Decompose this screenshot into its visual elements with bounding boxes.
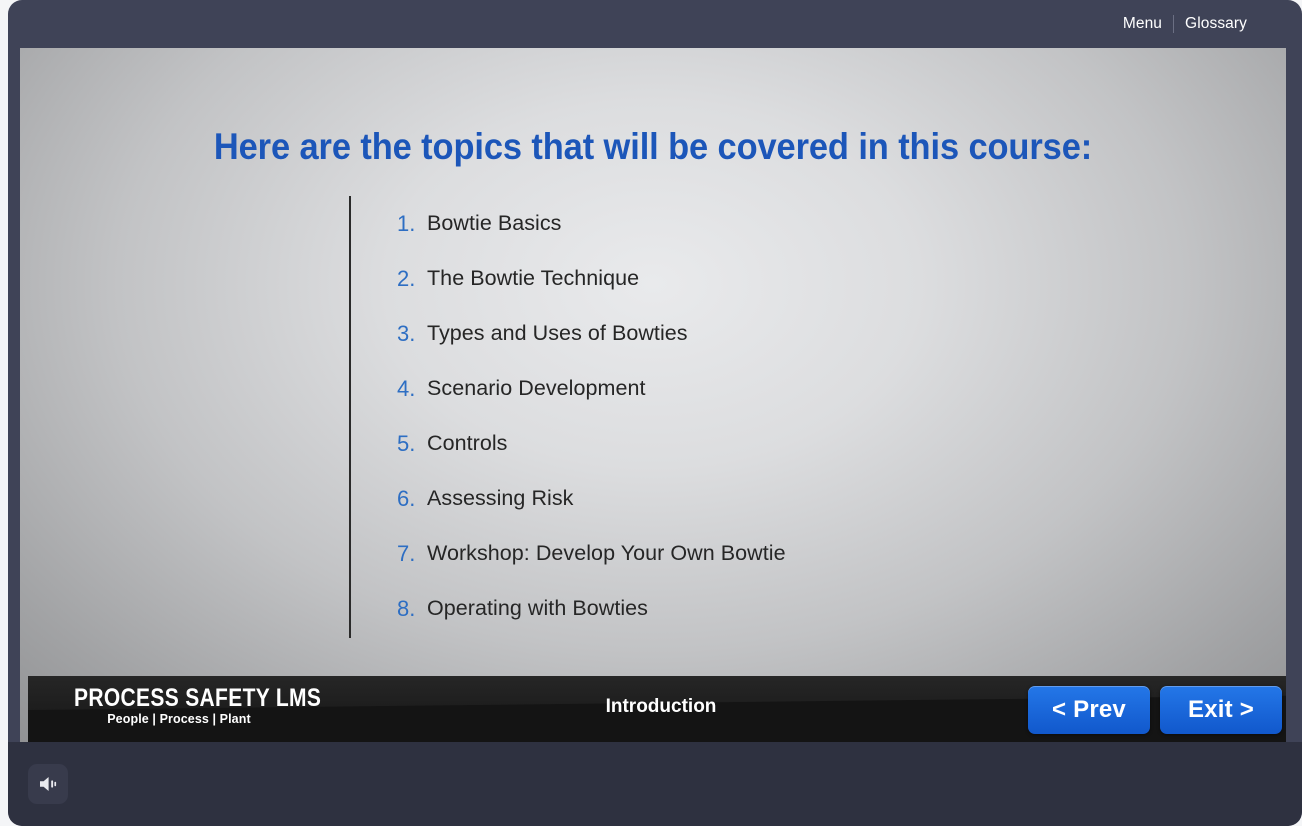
list-item: 2. The Bowtie Technique <box>397 251 1109 306</box>
list-item-label: Workshop: Develop Your Own Bowtie <box>427 541 786 566</box>
list-item-label: Types and Uses of Bowties <box>427 321 688 346</box>
list-item: 4. Scenario Development <box>397 361 1109 416</box>
list-item-number: 3. <box>397 321 427 347</box>
course-player-shell: Menu Glossary Here are the topics that w… <box>8 0 1302 826</box>
list-item-number: 2. <box>397 266 427 292</box>
glossary-button[interactable]: Glossary <box>1174 15 1258 33</box>
list-item-number: 7. <box>397 541 427 567</box>
slide-title: Here are the topics that will be covered… <box>64 126 1241 168</box>
list-item-label: Operating with Bowties <box>427 596 648 621</box>
list-item-label: Controls <box>427 431 507 456</box>
list-item: 1. Bowtie Basics <box>397 196 1109 251</box>
volume-button[interactable] <box>28 764 68 804</box>
list-item: 3. Types and Uses of Bowties <box>397 306 1109 361</box>
menu-button[interactable]: Menu <box>1112 15 1173 33</box>
list-item-label: The Bowtie Technique <box>427 266 639 291</box>
list-item: 5. Controls <box>397 416 1109 471</box>
list-item-number: 8. <box>397 596 427 622</box>
list-item: 7. Workshop: Develop Your Own Bowtie <box>397 526 1109 581</box>
slide-footer-bar: PROCESS SAFETY LMS People | Process | Pl… <box>28 676 1286 742</box>
slide-stage: Here are the topics that will be covered… <box>20 48 1286 742</box>
navigation-buttons: < Prev Exit > <box>1028 686 1282 734</box>
list-item-label: Bowtie Basics <box>427 211 561 236</box>
player-topbar: Menu Glossary <box>8 0 1302 48</box>
prev-button[interactable]: < Prev <box>1028 686 1150 734</box>
list-item: 6. Assessing Risk <box>397 471 1109 526</box>
list-item-number: 5. <box>397 431 427 457</box>
list-item-label: Scenario Development <box>427 376 646 401</box>
speaker-icon <box>37 774 59 794</box>
list-item-number: 4. <box>397 376 427 402</box>
exit-button[interactable]: Exit > <box>1160 686 1282 734</box>
list-item-number: 1. <box>397 211 427 237</box>
list-item: 8. Operating with Bowties <box>397 581 1109 636</box>
list-item-label: Assessing Risk <box>427 486 573 511</box>
list-item-number: 6. <box>397 486 427 512</box>
topics-list: 1. Bowtie Basics 2. The Bowtie Technique… <box>349 196 1109 638</box>
